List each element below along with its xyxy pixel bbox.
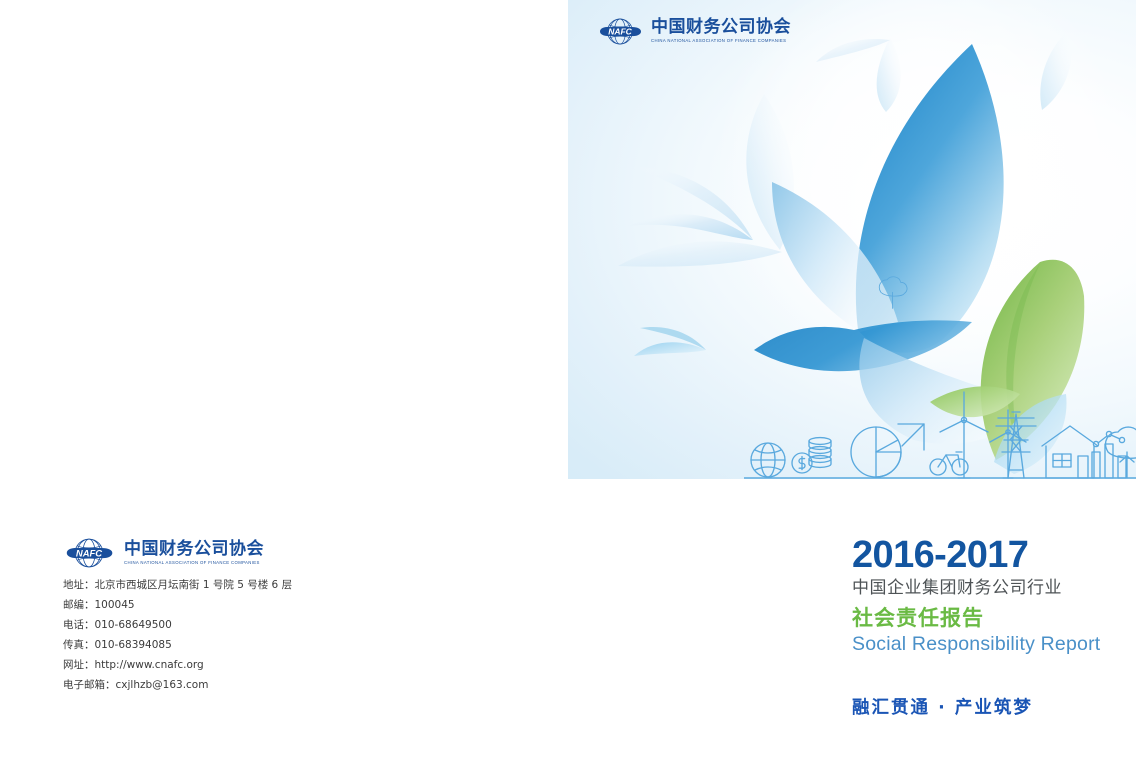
report-title-en: Social Responsibility Report	[852, 635, 1122, 655]
contact-email[interactable]: 电子邮箱：cxjlhzb@163.com	[63, 680, 483, 691]
back-cover-panel: NAFC 中国财务公司协会 CHINA NATIONAL ASSOCIATION…	[0, 479, 568, 771]
contact-address: 地址：北京市西城区月坛南街 1 号院 5 号楼 6 层	[63, 580, 483, 591]
svg-text:NAFC: NAFC	[76, 548, 102, 559]
svg-text:NAFC: NAFC	[608, 27, 632, 37]
contact-fax: 传真：010-68394085	[63, 640, 483, 651]
globe-icon	[751, 443, 785, 477]
petal-top-center-2	[816, 39, 890, 62]
cover-logo-text: 中国财务公司协会 CHINA NATIONAL ASSOCIATION OF F…	[651, 19, 791, 43]
organization-name-en: CHINA NATIONAL ASSOCIATION OF FINANCE CO…	[124, 561, 264, 565]
petal-pale-upper-2	[618, 241, 782, 266]
cover-logo-name-en: CHINA NATIONAL ASSOCIATION OF FINANCE CO…	[651, 39, 794, 43]
contact-postcode: 邮编：100045	[63, 600, 483, 611]
report-slogan: 融汇贯通 · 产业筑梦	[852, 700, 1033, 718]
petal-pale-left	[628, 166, 753, 240]
cover-artwork-panel	[568, 0, 1136, 479]
bicycle-icon	[930, 452, 968, 475]
contact-phone: 电话：010-68649500	[63, 620, 483, 631]
petal-small-floating	[634, 327, 706, 356]
bar-chart-icon	[1092, 431, 1126, 478]
contact-info-list: 地址：北京市西城区月坛南街 1 号院 5 号楼 6 层 邮编：100045 电话…	[63, 580, 483, 700]
organization-logo: NAFC 中国财务公司协会 CHINA NATIONAL ASSOCIATION…	[62, 538, 264, 568]
report-cover-page: NAFC 中国财务公司协会 CHINA NATIONAL ASSOCIATION…	[0, 0, 1136, 771]
coins-icon	[792, 438, 831, 473]
cover-logo: NAFC 中国财务公司协会 CHINA NATIONAL ASSOCIATION…	[596, 18, 791, 45]
cover-logo-name-cn: 中国财务公司协会	[651, 19, 791, 36]
report-industry-subtitle: 中国企业集团财务公司行业	[852, 580, 1122, 597]
cover-illustration	[568, 0, 1136, 479]
organization-name-cn: 中国财务公司协会	[124, 541, 264, 558]
report-title-block: 2016-2017 中国企业集团财务公司行业 社会责任报告 Social Res…	[852, 536, 1122, 655]
petal-far-right-top	[1040, 30, 1071, 110]
organization-logo-text: 中国财务公司协会 CHINA NATIONAL ASSOCIATION OF F…	[124, 541, 264, 565]
nafc-globe-icon: NAFC	[596, 18, 644, 45]
contact-website[interactable]: 网址：http://www.cnafc.org	[63, 660, 483, 671]
report-title-cn: 社会责任报告	[852, 608, 1122, 629]
report-years: 2016-2017	[852, 536, 1122, 574]
petal-top-center	[877, 38, 901, 112]
nafc-globe-icon: NAFC	[62, 538, 116, 568]
